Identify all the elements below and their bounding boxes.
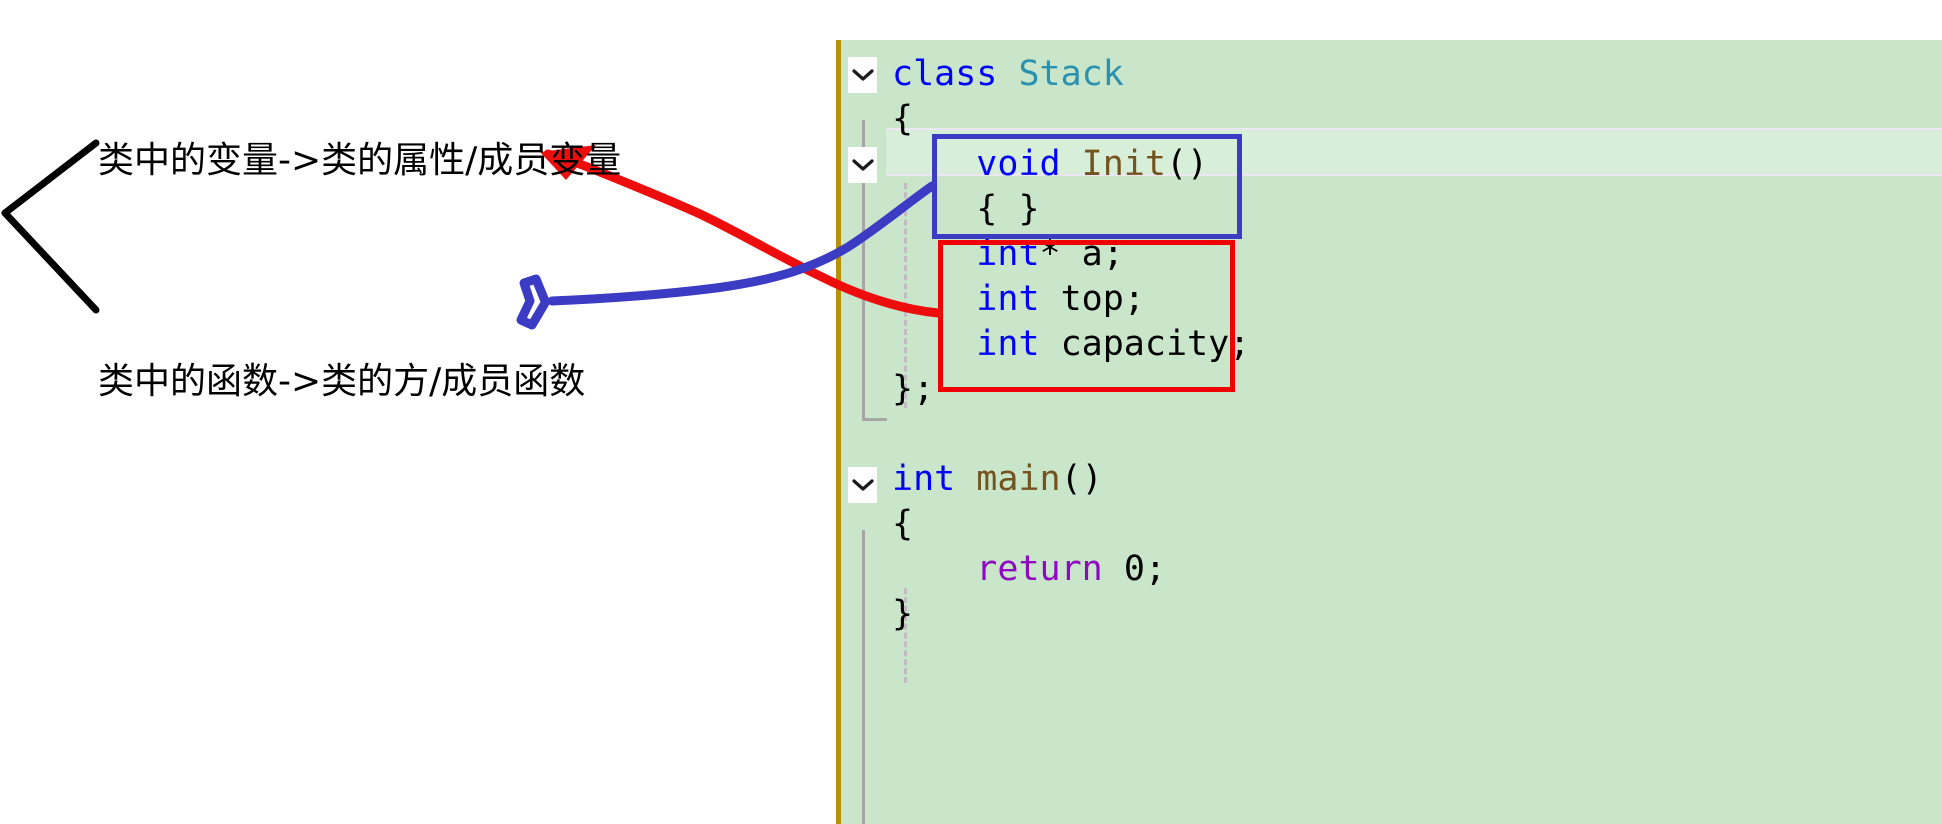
fields-highlight-box [938, 240, 1235, 392]
code-token: Stack [1018, 54, 1123, 94]
code-line-8[interactable] [836, 412, 892, 457]
annotation-functions-label: 类中的函数->类的方/成员函数 [98, 352, 585, 404]
code-line-11[interactable]: return 0; [836, 547, 1166, 592]
code-token: { [892, 99, 913, 139]
code-indent [892, 549, 976, 589]
code-token: main [976, 459, 1060, 499]
screenshot-root: class Stack { void Init() { } int* a; in… [0, 0, 1942, 824]
left-brace-bracket-icon [5, 143, 96, 310]
code-line-12[interactable]: } [836, 592, 913, 637]
code-token: return [976, 549, 1124, 589]
code-line-1[interactable]: { [836, 97, 913, 142]
code-line-9[interactable]: int main() [836, 457, 1103, 502]
code-token: } [892, 594, 913, 634]
code-line-0[interactable]: class Stack [836, 52, 1124, 97]
code-line-10[interactable]: { [836, 502, 913, 547]
code-token: int [892, 459, 976, 499]
methods-highlight-box [932, 134, 1242, 239]
code-token: 0; [1124, 549, 1166, 589]
code-line-7[interactable]: }; [836, 367, 934, 412]
code-editor-panel[interactable]: class Stack { void Init() { } int* a; in… [836, 40, 1942, 824]
annotation-variables-label: 类中的变量->类的属性/成员变量 [98, 131, 621, 183]
code-token: () [1061, 459, 1103, 499]
code-token: class [892, 54, 1018, 94]
code-token: { [892, 504, 913, 544]
code-token: }; [892, 369, 934, 409]
